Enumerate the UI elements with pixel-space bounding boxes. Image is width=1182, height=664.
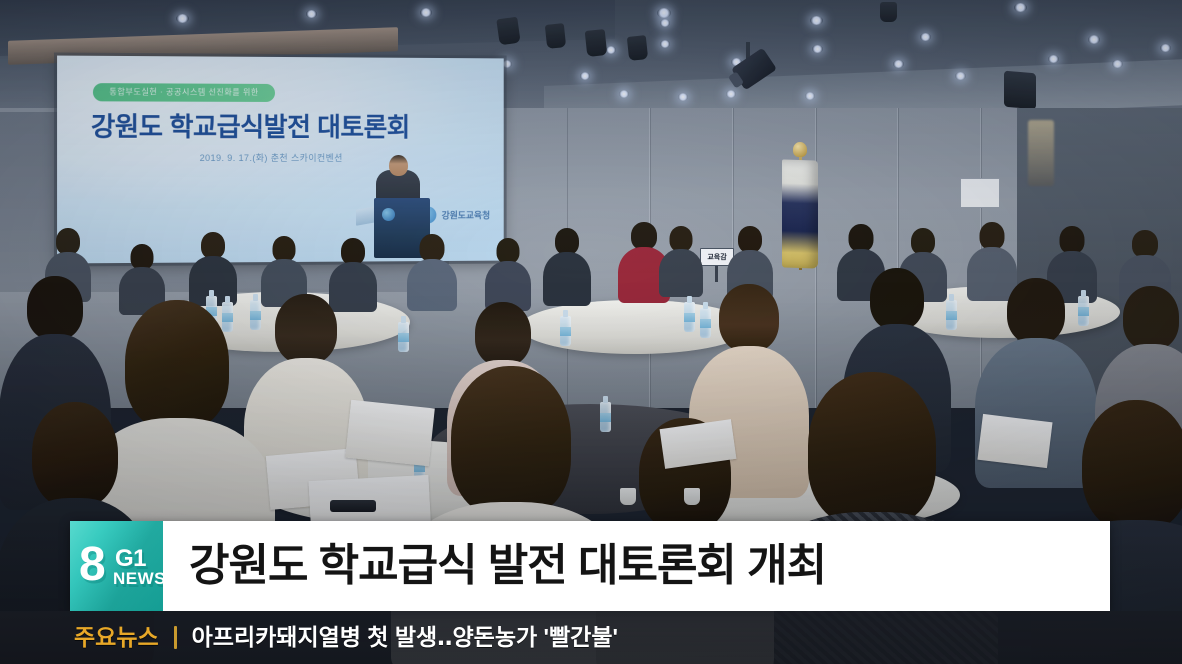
downlight-icon — [893, 60, 904, 68]
ceiling-speaker-icon — [585, 29, 608, 57]
attendee-head — [555, 228, 579, 255]
attendee — [486, 238, 530, 310]
brand-suffix-text: NEWS — [113, 570, 163, 587]
downlight-icon — [678, 93, 688, 101]
podium-logo-icon — [382, 208, 395, 221]
downlight-icon — [176, 14, 189, 23]
attendee-head — [341, 238, 365, 265]
attendee-head — [32, 402, 118, 508]
downlight-icon — [306, 10, 317, 18]
ticker-headline-text: 아프리카돼지열병 첫 발생‥양돈농가 '빨간불' — [192, 626, 618, 649]
downlight-icon — [1014, 3, 1027, 12]
ceiling-speaker-icon — [880, 2, 897, 22]
attendee-head — [738, 226, 762, 253]
water-bottle — [560, 316, 571, 346]
attendee-head — [275, 294, 337, 364]
downlight-icon — [805, 92, 815, 100]
lower-third-banner: 8 G1 NEWS 강원도 학교급식 발전 대토론회 개최 — [70, 521, 1110, 611]
news-ticker-bar: 주요뉴스 아프리카돼지열병 첫 발생‥양돈농가 '빨간불' — [0, 611, 1182, 664]
presenter-head — [389, 155, 408, 176]
downlight-icon — [1088, 35, 1100, 44]
downlight-icon — [920, 33, 931, 41]
downlight-icon — [726, 90, 736, 98]
attendee-head — [719, 284, 779, 352]
screen-banner-text: 통합부도실현 · 공공시스템 선진화를 위한 — [93, 83, 275, 102]
attendee-head — [980, 222, 1005, 250]
headline-text: 강원도 학교급식 발전 대토론회 개최 — [189, 544, 826, 588]
paper-cup — [684, 488, 700, 505]
attendee-head — [56, 228, 80, 255]
attendee-head — [1082, 400, 1182, 532]
downlight-icon — [660, 19, 670, 27]
ticker-category-label: 주요뉴스 — [74, 626, 159, 649]
downlight-icon — [420, 8, 432, 17]
attendee-body — [543, 252, 591, 306]
wall-sign — [960, 178, 1000, 208]
document-paper — [345, 400, 435, 466]
downlight-icon — [1048, 55, 1059, 63]
flag-finial-icon — [793, 142, 807, 157]
wall-sconce-icon — [1028, 120, 1054, 186]
ticker-row: 주요뉴스 아프리카돼지열병 첫 발생‥양돈농가 '빨간불' — [74, 626, 618, 649]
downlight-icon — [1112, 60, 1123, 68]
attendee-head — [631, 222, 657, 250]
ceiling-speaker-icon — [627, 35, 648, 61]
attendee-head — [911, 228, 935, 255]
attendee-head — [870, 268, 924, 330]
attendee — [544, 228, 590, 304]
attendee-head — [1132, 230, 1158, 258]
downlight-icon — [580, 72, 590, 80]
projection-screen: 통합부도실현 · 공공시스템 선진화를 위한 강원도 학교급식발전 대토론회 2… — [57, 56, 504, 264]
broadcast-frame: 통합부도실현 · 공공시스템 선진화를 위한 강원도 학교급식발전 대토론회 2… — [0, 0, 1182, 664]
attendee-head — [1123, 286, 1179, 350]
attendee-head — [849, 224, 874, 252]
smartphone — [330, 500, 376, 512]
channel-number-text: 8 — [79, 541, 106, 589]
screen-subtitle-text: 2019. 9. 17.(화) 춘천 스카이컨벤션 — [200, 151, 343, 164]
attendee-head — [451, 366, 571, 516]
headline-panel: 강원도 학교급식 발전 대토론회 개최 — [163, 521, 1110, 611]
attendee-head — [475, 302, 531, 366]
name-placard-stand — [715, 266, 718, 282]
screen-title-text: 강원도 학교급식발전 대토론회 — [91, 106, 410, 144]
attendee-head — [27, 276, 83, 340]
attendee-head — [420, 234, 445, 262]
attendee-head — [808, 372, 936, 526]
screen-org-logo-text: 강원도교육청 — [442, 208, 491, 221]
water-bottle — [398, 322, 409, 352]
downlight-icon — [660, 40, 670, 48]
paper-cup — [620, 488, 636, 505]
ceiling-speaker-icon — [545, 23, 566, 49]
downlight-icon — [810, 16, 823, 25]
ticker-separator-icon — [174, 626, 177, 649]
downlight-icon — [619, 90, 629, 98]
name-placard-label: 교육감 — [707, 252, 726, 262]
screen-org-logo: 강원도교육청 — [420, 206, 490, 223]
ceiling-speaker-icon — [496, 17, 520, 46]
document-paper — [977, 414, 1052, 468]
downlight-icon — [606, 46, 616, 54]
organization-flag — [782, 159, 818, 268]
attendee-head — [1007, 278, 1065, 344]
attendee-head — [1060, 226, 1085, 254]
downlight-icon — [955, 72, 966, 80]
attendee — [408, 234, 456, 308]
attendee-head — [201, 232, 225, 259]
brand-text: G1 — [115, 547, 146, 571]
downlight-icon — [657, 8, 671, 18]
wall-speaker-icon — [1004, 71, 1036, 110]
downlight-icon — [812, 45, 823, 53]
downlight-icon — [1160, 44, 1171, 52]
network-logo[interactable]: 8 G1 NEWS — [70, 521, 163, 611]
